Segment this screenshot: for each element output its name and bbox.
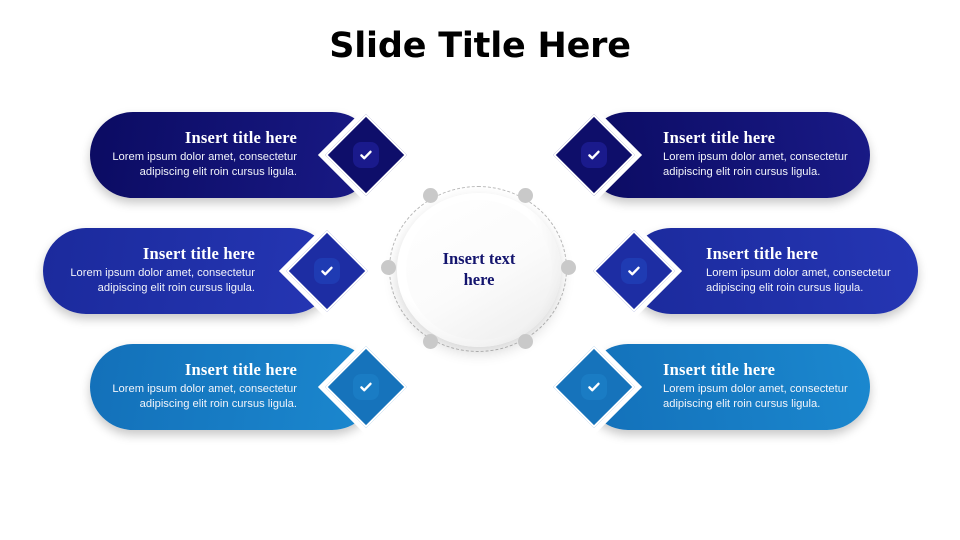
card-text: Insert title here Lorem ipsum dolor amet…: [90, 129, 297, 180]
info-card-left-2[interactable]: Insert title here Lorem ipsum dolor amet…: [43, 228, 373, 314]
diamond-badge[interactable]: [283, 227, 371, 315]
ring-dot: [518, 334, 533, 349]
check-icon: [621, 258, 647, 284]
ring-dot: [518, 188, 533, 203]
info-card-left-1[interactable]: Insert title here Lorem ipsum dolor amet…: [90, 112, 410, 198]
info-card-right-1[interactable]: Insert title here Lorem ipsum dolor amet…: [550, 112, 870, 198]
card-description: Lorem ipsum dolor amet, consectetur adip…: [90, 150, 297, 180]
card-description: Lorem ipsum dolor amet, consectetur adip…: [663, 382, 870, 412]
diamond-badge[interactable]: [322, 111, 410, 199]
ring-dot: [561, 260, 576, 275]
ring-dot: [423, 188, 438, 203]
center-text: Insert text here: [443, 249, 516, 290]
info-card-left-3[interactable]: Insert title here Lorem ipsum dolor amet…: [90, 344, 410, 430]
check-icon: [581, 142, 607, 168]
check-icon: [353, 142, 379, 168]
diamond-badge[interactable]: [322, 343, 410, 431]
card-title: Insert title here: [43, 245, 255, 264]
info-card-right-3[interactable]: Insert title here Lorem ipsum dolor amet…: [550, 344, 870, 430]
card-text: Insert title here Lorem ipsum dolor amet…: [90, 361, 297, 412]
card-title: Insert title here: [90, 129, 297, 148]
check-icon: [353, 374, 379, 400]
card-title: Insert title here: [706, 245, 918, 264]
card-title: Insert title here: [90, 361, 297, 380]
card-text: Insert title here Lorem ipsum dolor amet…: [663, 361, 870, 412]
info-card-right-2[interactable]: Insert title here Lorem ipsum dolor amet…: [588, 228, 918, 314]
check-icon: [314, 258, 340, 284]
card-description: Lorem ipsum dolor amet, consectetur adip…: [43, 266, 255, 296]
ring-dot: [381, 260, 396, 275]
card-description: Lorem ipsum dolor amet, consectetur adip…: [90, 382, 297, 412]
ring-dot: [423, 334, 438, 349]
card-text: Insert title here Lorem ipsum dolor amet…: [706, 245, 918, 296]
diamond-badge[interactable]: [550, 111, 638, 199]
card-title: Insert title here: [663, 361, 870, 380]
card-title: Insert title here: [663, 129, 870, 148]
card-description: Lorem ipsum dolor amet, consectetur adip…: [663, 150, 870, 180]
check-icon: [581, 374, 607, 400]
diamond-badge[interactable]: [550, 343, 638, 431]
page-title: Slide Title Here: [0, 26, 960, 66]
diamond-badge[interactable]: [590, 227, 678, 315]
center-hub[interactable]: Insert text here: [381, 182, 577, 358]
card-text: Insert title here Lorem ipsum dolor amet…: [43, 245, 255, 296]
center-disc[interactable]: Insert text here: [406, 200, 552, 340]
card-description: Lorem ipsum dolor amet, consectetur adip…: [706, 266, 918, 296]
card-text: Insert title here Lorem ipsum dolor amet…: [663, 129, 870, 180]
